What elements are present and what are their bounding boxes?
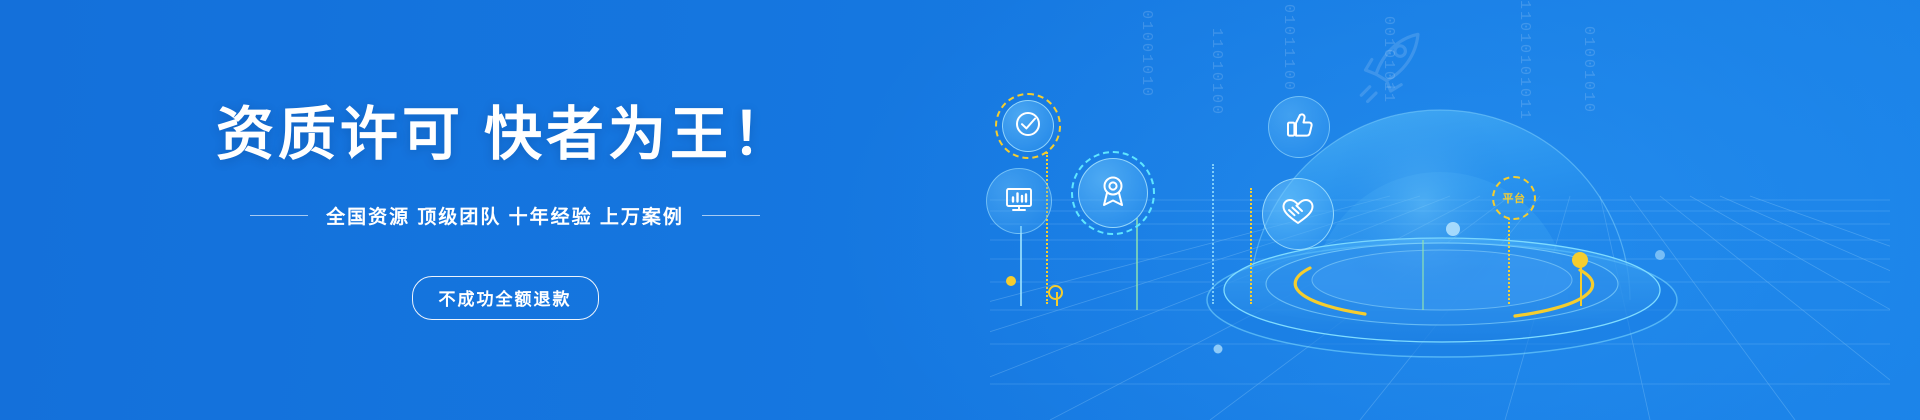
accent-arc-right — [1515, 270, 1593, 316]
thumb-glyph — [1282, 108, 1316, 147]
binary-deco: 01011100 — [1280, 4, 1297, 92]
binary-deco: 01001010 — [1138, 10, 1155, 98]
thumbs-up-icon — [1268, 96, 1330, 158]
dashed-ring — [1071, 151, 1155, 235]
binary-deco: 11010100 — [1208, 28, 1225, 116]
cta-container: 不成功全额退款 — [0, 276, 1010, 320]
rocket-icon — [1361, 34, 1418, 101]
award-medal-icon — [1078, 158, 1148, 228]
connector-stem — [1136, 218, 1138, 310]
grid-floor — [960, 196, 1920, 420]
divider-right — [702, 215, 760, 216]
handshake-glyph — [1277, 191, 1319, 238]
connector-stem — [1046, 152, 1048, 304]
connector-stem — [1508, 218, 1510, 304]
copy-block: 资质许可 快者为王！ 全国资源 顶级团队 十年经验 上万案例 不成功全额退款 — [0, 0, 1010, 420]
badge-disc — [1262, 178, 1334, 250]
connector-stem — [1422, 240, 1424, 310]
node-dot — [1572, 252, 1588, 268]
page-title: 资质许可 快者为王！ — [0, 102, 1010, 169]
refund-guarantee-button[interactable]: 不成功全额退款 — [412, 276, 599, 320]
connector-stem — [1580, 262, 1582, 306]
connector-stem — [1250, 188, 1252, 304]
podium — [1207, 238, 1677, 357]
binary-deco: 01001010 — [1580, 26, 1597, 114]
connector-stem — [1212, 164, 1214, 304]
binary-deco: 11010101011 — [1516, 0, 1533, 121]
handshake-heart-icon — [1262, 178, 1334, 250]
accent-arc-left — [1295, 268, 1365, 314]
medal-glyph — [1093, 171, 1133, 216]
platform-label-text: 平台 — [1503, 190, 1526, 206]
divider-left — [250, 215, 308, 216]
promo-banner: 01001010 11010100 01011100 00101011 1101… — [0, 0, 1920, 420]
badge-disc — [1268, 96, 1330, 158]
node-dot — [1048, 285, 1063, 300]
subtitle-text: 全国资源 顶级团队 十年经验 上万案例 — [326, 202, 684, 229]
check-glyph — [1013, 109, 1043, 144]
binary-deco: 00101011 — [1380, 16, 1397, 104]
illustration-svg — [960, 0, 1920, 420]
platform-label-badge: 平台 — [1492, 176, 1536, 220]
dome-shape — [1250, 110, 1630, 300]
connector-stem — [1020, 226, 1022, 306]
hero-illustration: 01001010 11010100 01011100 00101011 1101… — [960, 0, 1920, 420]
connector-stem — [1056, 292, 1058, 306]
sphere-small — [1446, 222, 1460, 236]
subtitle-row: 全国资源 顶级团队 十年经验 上万案例 — [0, 202, 1010, 229]
badge-disc — [1078, 158, 1148, 228]
